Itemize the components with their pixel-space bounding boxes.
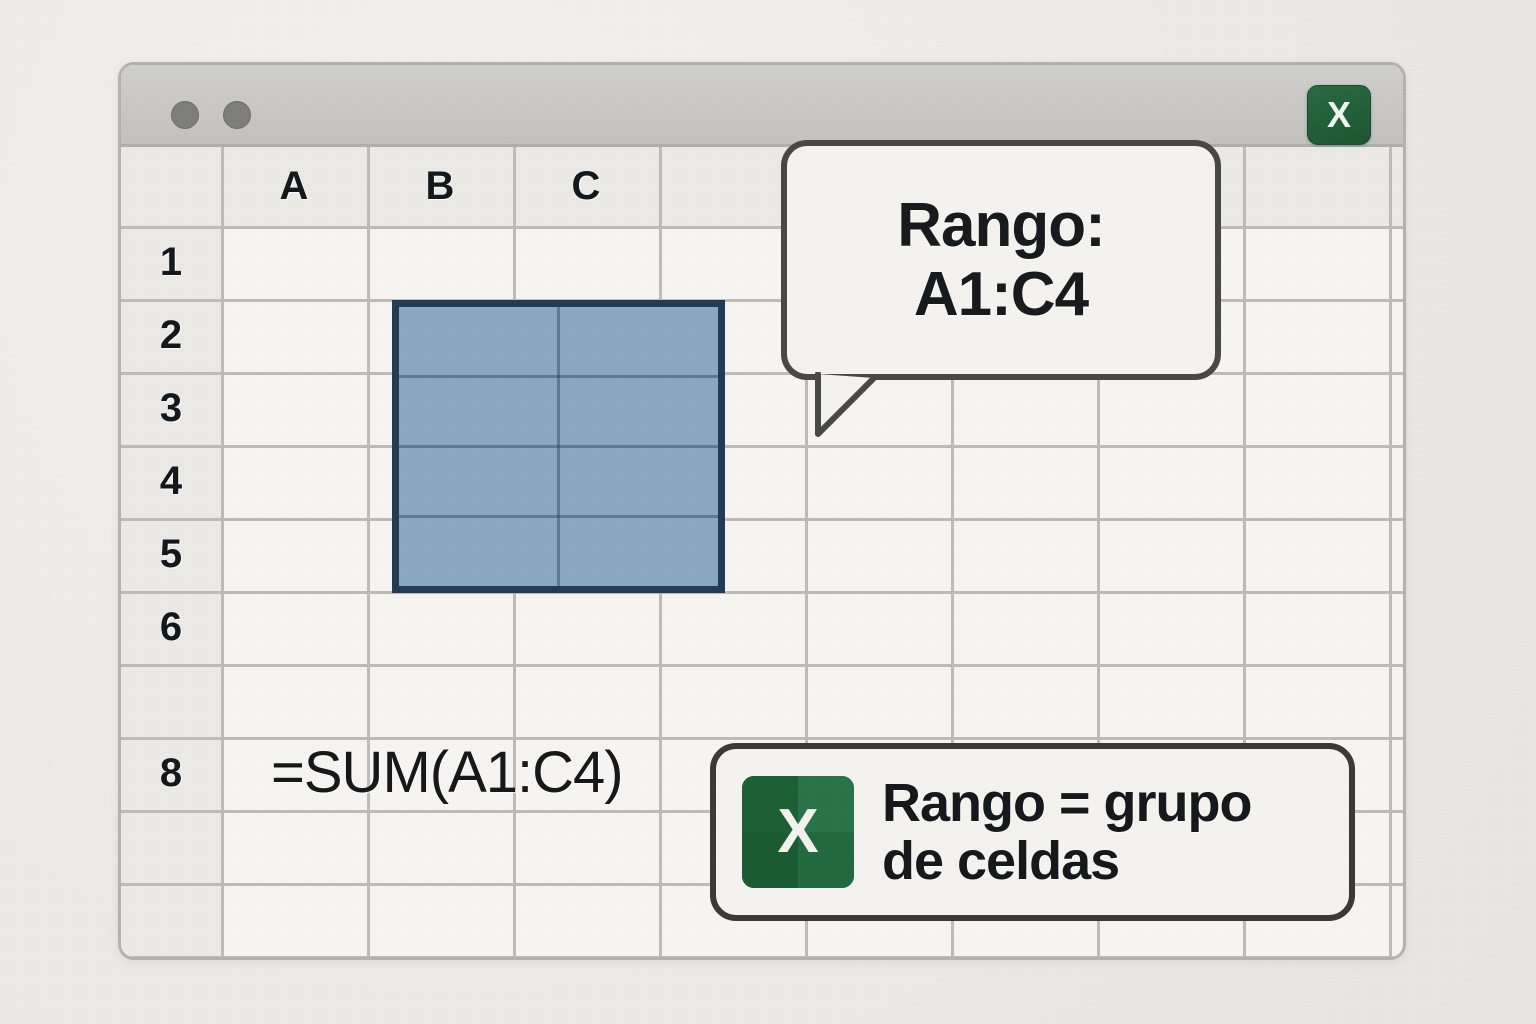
page-background: X ABC 1234568 =SUM(A1:C4) R	[0, 0, 1536, 1024]
row-header-5[interactable]: 5	[121, 518, 221, 591]
window-dot-left[interactable]	[171, 101, 199, 129]
row-header-8[interactable]: 8	[121, 737, 221, 810]
row-header-row10[interactable]	[121, 883, 221, 956]
grid-row-line	[121, 518, 1403, 521]
formula-text: =SUM(A1:C4)	[271, 739, 623, 806]
row-header-1[interactable]: 1	[121, 226, 221, 299]
excel-close-icon[interactable]: X	[1307, 85, 1371, 145]
column-header-B[interactable]: B	[367, 147, 513, 226]
callout-line-2: de celdas	[882, 832, 1251, 890]
row-header-3[interactable]: 3	[121, 372, 221, 445]
row-header-2[interactable]: 2	[121, 299, 221, 372]
window-dot-right[interactable]	[223, 101, 251, 129]
bubble-line-2: A1:C4	[914, 260, 1088, 329]
grid-column-line	[1389, 147, 1392, 957]
definition-callout: X Rango = grupo de celdas	[710, 743, 1355, 921]
excel-close-icon-label: X	[1327, 94, 1351, 136]
grid-row-line	[121, 664, 1403, 667]
selected-range[interactable]	[392, 300, 725, 593]
bubble-line-1: Rango:	[897, 191, 1105, 260]
grid-row-line	[121, 445, 1403, 448]
speech-bubble-tail	[812, 372, 892, 444]
grid-row-line	[121, 956, 1403, 959]
row-header-row9[interactable]	[121, 810, 221, 883]
column-header-A[interactable]: A	[221, 147, 367, 226]
row-header-6[interactable]: 6	[121, 591, 221, 664]
excel-app-icon: X	[742, 776, 854, 888]
range-speech-bubble: Rango: A1:C4	[781, 140, 1221, 380]
window-titlebar: X	[121, 65, 1403, 147]
excel-app-icon-label: X	[777, 801, 818, 863]
row-header-4[interactable]: 4	[121, 445, 221, 518]
grid-column-line	[367, 147, 370, 957]
column-header-C[interactable]: C	[513, 147, 659, 226]
callout-line-1: Rango = grupo	[882, 774, 1251, 832]
callout-text: Rango = grupo de celdas	[882, 774, 1251, 891]
row-header-row7[interactable]	[121, 664, 221, 737]
selection-inner-row-line-2	[399, 445, 718, 448]
column-header-col8[interactable]	[1243, 147, 1389, 226]
selection-inner-row-line-3	[399, 515, 718, 518]
grid-row-line	[121, 591, 1403, 594]
grid-column-line	[221, 147, 224, 957]
selection-inner-row-line-1	[399, 375, 718, 378]
